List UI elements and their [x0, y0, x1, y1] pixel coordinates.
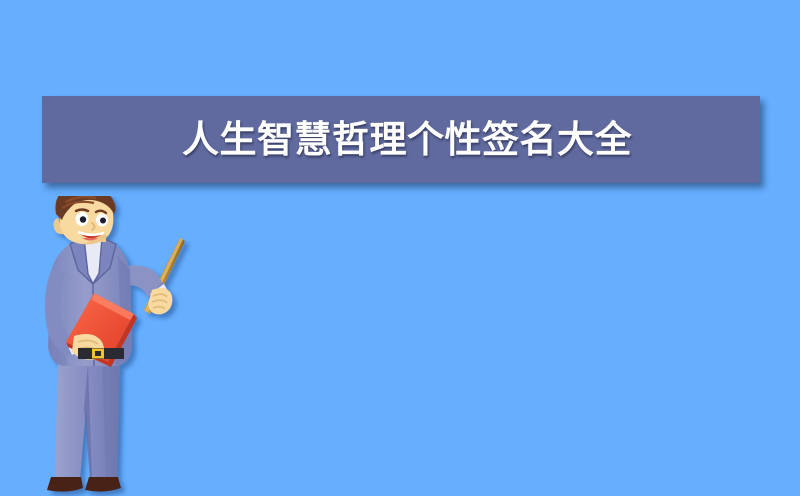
- title-banner: 人生智慧哲理个性签名大全: [42, 96, 760, 183]
- pointing-hand: [148, 288, 172, 314]
- teacher-figure: [45, 196, 185, 492]
- trousers: [55, 356, 120, 479]
- page-canvas: 人生智慧哲理个性签名大全: [0, 0, 800, 496]
- cartoon-teacher-illustration: [22, 196, 222, 496]
- belt: [78, 348, 124, 359]
- page-title: 人生智慧哲理个性签名大全: [182, 96, 760, 183]
- shoes: [47, 477, 121, 492]
- head: [54, 196, 116, 244]
